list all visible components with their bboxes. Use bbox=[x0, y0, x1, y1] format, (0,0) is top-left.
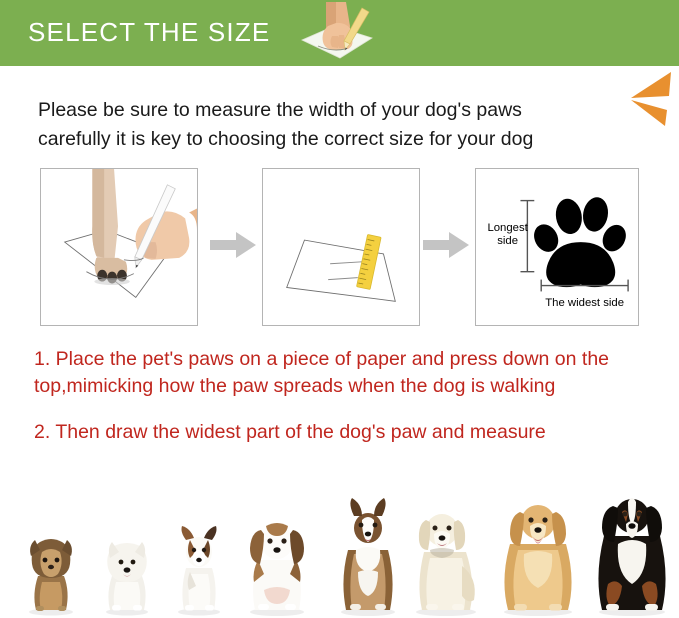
intro-text: Please be sure to measure the width of y… bbox=[38, 96, 654, 154]
header-banner: SELECT THE SIZE bbox=[0, 0, 679, 66]
paw-tracing-illustration bbox=[41, 169, 197, 325]
dog-size-row bbox=[0, 486, 679, 618]
longest-side-measure-line bbox=[520, 201, 534, 272]
dog-beagle bbox=[238, 512, 316, 616]
right-arrow-icon bbox=[423, 230, 469, 260]
instruction-steps: 1. Place the pet's paws on a piece of pa… bbox=[34, 346, 658, 446]
paw-measurement-diagram: Longest side The widest side bbox=[476, 169, 638, 325]
dog-border-collie bbox=[330, 494, 406, 616]
panel-trace bbox=[40, 168, 198, 326]
intro-line-2: carefully it is key to choosing the corr… bbox=[38, 125, 654, 154]
longest-side-label-line-2: side bbox=[497, 235, 518, 247]
size-guide-page: SELECT THE SIZE Please be sure to measur… bbox=[0, 0, 679, 618]
dog-golden-retriever bbox=[492, 494, 584, 616]
paper-with-ruler-illustration bbox=[263, 169, 419, 325]
dog-bernese-mountain-dog bbox=[588, 488, 676, 616]
instruction-step-1: 1. Place the pet's paws on a piece of pa… bbox=[34, 346, 658, 400]
dog-west-highland-white-terrier bbox=[96, 532, 158, 616]
right-arrow-icon bbox=[210, 230, 256, 260]
hand-drawing-on-paper-icon bbox=[288, 2, 388, 64]
paw-print-icon bbox=[529, 195, 630, 287]
dog-jack-russell-terrier bbox=[168, 518, 230, 616]
longest-side-label-line-1: Longest bbox=[487, 222, 528, 234]
dog-yorkshire-terrier bbox=[18, 530, 84, 616]
illustration-panel-row: Longest side The widest side bbox=[40, 168, 640, 328]
instruction-step-2: 2. Then draw the widest part of the dog'… bbox=[34, 419, 658, 446]
widest-side-label: The widest side bbox=[545, 297, 624, 309]
dog-yellow-labrador-retriever bbox=[404, 500, 488, 616]
page-title: SELECT THE SIZE bbox=[28, 17, 270, 48]
intro-line-1: Please be sure to measure the width of y… bbox=[38, 96, 654, 125]
panel-ruler bbox=[262, 168, 420, 326]
panel-measure: Longest side The widest side bbox=[475, 168, 639, 326]
